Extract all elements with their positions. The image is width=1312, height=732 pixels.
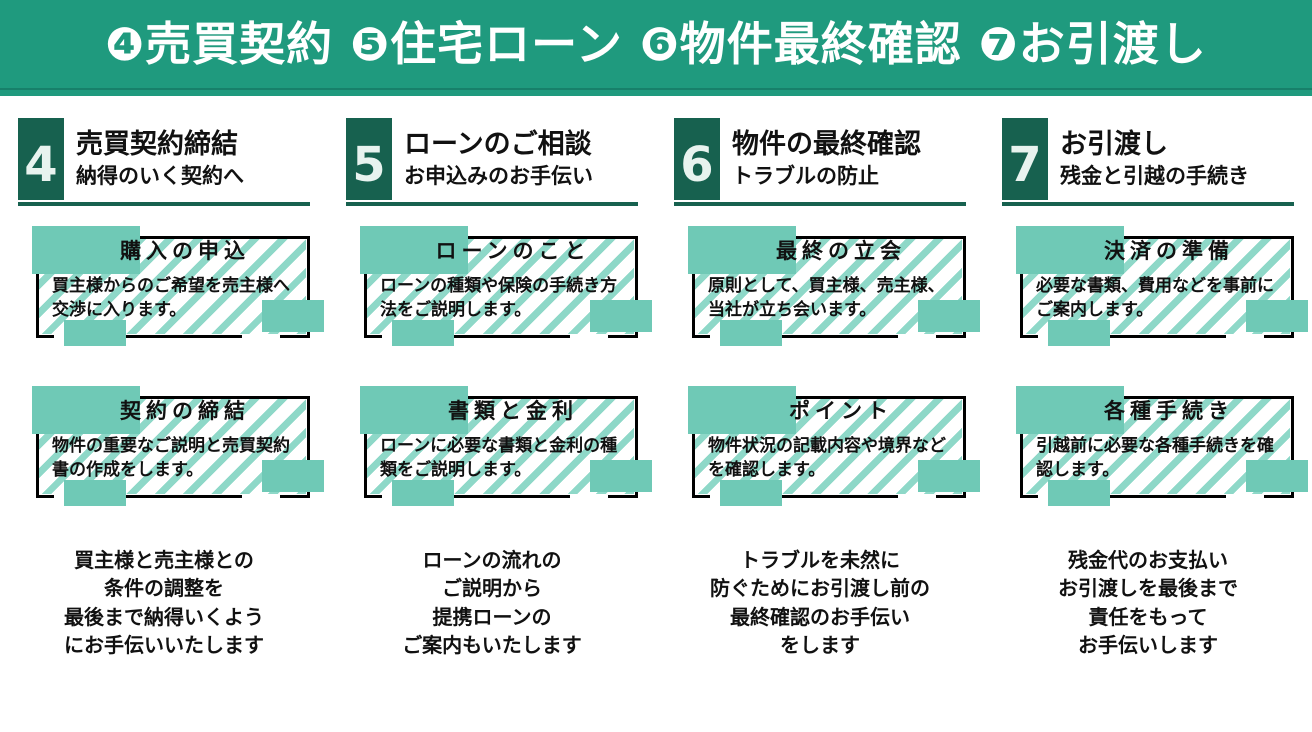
column-subtitle: 残金と引越の手続き [1060,164,1294,188]
step-card: 各種手続き 引越前に必要な各種手続きを確認します。 [1002,386,1294,498]
step-number: 5 [352,141,385,189]
process-column-6: 6 物件の最終確認 トラブルの防止 最終の立会 原則 [656,118,984,660]
process-column-7: 7 お引渡し 残金と引越の手続き 決済の準備 必要な [984,118,1312,660]
card-border-bottom-left [1020,495,1038,498]
page-banner: ❹売買契約 ❺住宅ローン ❻物件最終確認 ❼お引渡し [0,0,1312,88]
step-card: ローンのこと ローンの種類や保険の手続き方法をご説明します。 [346,226,638,338]
summary-line: 最後まで納得いくよう [18,603,310,631]
column-title: 売買契約締結 [76,130,310,160]
card-border-bottom-right [936,335,966,338]
cards-container: 購入の申込 買主様からのご希望を売主様へ交渉に入ります。 契約の締結 物件の重要… [18,226,310,498]
cards-container: ローンのこと ローンの種類や保険の手続き方法をご説明します。 書類と金利 ローン… [346,226,638,498]
column-subtitle: 納得のいく契約へ [76,164,310,188]
card-body: ローンの種類や保険の手続き方法をご説明します。 [380,274,628,322]
step-number-badge: 4 [18,118,64,200]
column-header: 7 お引渡し 残金と引越の手続き [1002,118,1294,200]
card-border-left [692,428,695,498]
card-border-left [692,268,695,338]
card-border-bottom-left [364,335,382,338]
card-border-bottom-left [1020,335,1038,338]
card-border-bottom-left [36,495,54,498]
card-title: 書類と金利 [398,400,628,423]
card-title: 最終の立会 [726,240,956,263]
card-title: 購入の申込 [70,240,300,263]
card-border-bottom-mid [110,335,242,338]
card-border-bottom-left [36,335,54,338]
step-card: 最終の立会 原則として、買主様、売主様、当社が立ち会います。 [674,226,966,338]
summary-line: お手伝いします [1002,631,1294,659]
process-column-5: 5 ローンのご相談 お申込みのお手伝い ローンのこと [328,118,656,660]
column-header-rule [674,202,966,206]
step-card: 書類と金利 ローンに必要な書類と金利の種類をご説明します。 [346,386,638,498]
card-title: 契約の締結 [70,400,300,423]
card-border-bottom-right [936,495,966,498]
card-body: 物件の重要なご説明と売買契約書の作成をします。 [52,434,300,482]
summary-line: 買主様と売主様との [18,546,310,574]
summary-line: ご案内もいたします [346,631,638,659]
column-header-texts: ローンのご相談 お申込みのお手伝い [392,118,638,200]
step-number-badge: 7 [1002,118,1048,200]
column-summary: トラブルを未然に防ぐためにお引渡し前の最終確認のお手伝いをします [674,546,966,660]
column-title: ローンのご相談 [404,130,638,160]
card-title: ローンのこと [398,240,628,263]
cards-container: 最終の立会 原則として、買主様、売主様、当社が立ち会います。 ポイント 物件状況… [674,226,966,498]
card-border-bottom-mid [766,335,898,338]
card-border-bottom-right [608,335,638,338]
card-border-left [36,268,39,338]
card-border-bottom-left [692,335,710,338]
column-summary: 残金代のお支払いお引渡しを最後まで責任をもってお手伝いします [1002,546,1294,660]
summary-line: をします [674,631,966,659]
step-number: 4 [24,141,57,189]
step-number: 6 [680,141,713,189]
card-border-bottom-mid [438,335,570,338]
column-subtitle: トラブルの防止 [732,164,966,188]
card-body: 物件状況の記載内容や境界などを確認します。 [708,434,956,482]
step-number-badge: 5 [346,118,392,200]
column-header-texts: 売買契約締結 納得のいく契約へ [64,118,310,200]
column-header: 5 ローンのご相談 お申込みのお手伝い [346,118,638,200]
card-body: 必要な書類、費用などを事前にご案内します。 [1036,274,1284,322]
card-body: 原則として、買主様、売主様、当社が立ち会います。 [708,274,956,322]
banner-title: ❹売買契約 ❺住宅ローン ❻物件最終確認 ❼お引渡し [105,21,1207,67]
summary-line: お引渡しを最後まで [1002,574,1294,602]
summary-line: 残金代のお支払い [1002,546,1294,574]
column-header-texts: お引渡し 残金と引越の手続き [1048,118,1294,200]
accent-block-bottom-left [392,480,454,506]
card-title: 決済の準備 [1054,240,1284,263]
accent-block-bottom-left [720,320,782,346]
summary-line: 責任をもって [1002,603,1294,631]
card-body: 引越前に必要な各種手続きを確認します。 [1036,434,1284,482]
card-title: 各種手続き [1054,400,1284,423]
step-card: 契約の締結 物件の重要なご説明と売買契約書の作成をします。 [18,386,310,498]
cards-container: 決済の準備 必要な書類、費用などを事前にご案内します。 各種手続き 引越前に必要… [1002,226,1294,498]
card-border-bottom-right [280,335,310,338]
step-card: ポイント 物件状況の記載内容や境界などを確認します。 [674,386,966,498]
card-border-left [1020,428,1023,498]
process-column-4: 4 売買契約締結 納得のいく契約へ 購入の申込 買主 [0,118,328,660]
card-border-bottom-right [1264,495,1294,498]
step-number-badge: 6 [674,118,720,200]
process-columns: 4 売買契約締結 納得のいく契約へ 購入の申込 買主 [0,96,1312,660]
summary-line: ご説明から [346,574,638,602]
column-header: 6 物件の最終確認 トラブルの防止 [674,118,966,200]
card-border-left [1020,268,1023,338]
column-header-rule [1002,202,1294,206]
card-border-bottom-left [364,495,382,498]
summary-line: 提携ローンの [346,603,638,631]
card-border-bottom-right [1264,335,1294,338]
column-subtitle: お申込みのお手伝い [404,164,638,188]
card-border-left [364,268,367,338]
column-header-texts: 物件の最終確認 トラブルの防止 [720,118,966,200]
summary-line: にお手伝いいたします [18,631,310,659]
card-border-bottom-left [692,495,710,498]
column-header-rule [346,202,638,206]
card-border-bottom-right [280,495,310,498]
card-border-bottom-right [608,495,638,498]
card-border-left [364,428,367,498]
step-number: 7 [1008,141,1041,189]
card-border-bottom-mid [1094,335,1226,338]
accent-block-bottom-left [1048,480,1110,506]
step-card: 決済の準備 必要な書類、費用などを事前にご案内します。 [1002,226,1294,338]
card-border-bottom-mid [438,495,570,498]
card-border-left [36,428,39,498]
column-summary: 買主様と売主様との条件の調整を最後まで納得いくようにお手伝いいたします [18,546,310,660]
summary-line: 防ぐためにお引渡し前の [674,574,966,602]
card-body: ローンに必要な書類と金利の種類をご説明します。 [380,434,628,482]
column-header-rule [18,202,310,206]
accent-block-bottom-left [392,320,454,346]
accent-block-bottom-left [720,480,782,506]
card-border-bottom-mid [766,495,898,498]
summary-line: ローンの流れの [346,546,638,574]
accent-block-bottom-left [64,320,126,346]
summary-line: トラブルを未然に [674,546,966,574]
column-title: 物件の最終確認 [732,130,966,160]
accent-block-bottom-left [64,480,126,506]
column-header: 4 売買契約締結 納得のいく契約へ [18,118,310,200]
card-border-bottom-mid [1094,495,1226,498]
column-title: お引渡し [1060,130,1294,160]
summary-line: 最終確認のお手伝い [674,603,966,631]
banner-underline [0,88,1312,96]
step-card: 購入の申込 買主様からのご希望を売主様へ交渉に入ります。 [18,226,310,338]
card-body: 買主様からのご希望を売主様へ交渉に入ります。 [52,274,300,322]
summary-line: 条件の調整を [18,574,310,602]
accent-block-bottom-left [1048,320,1110,346]
card-title: ポイント [726,400,956,423]
card-border-bottom-mid [110,495,242,498]
column-summary: ローンの流れのご説明から提携ローンのご案内もいたします [346,546,638,660]
